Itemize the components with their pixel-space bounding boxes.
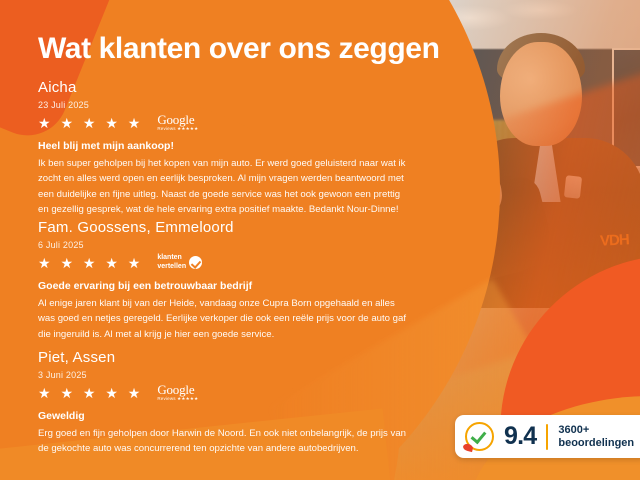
google-logo: Google Reviews ★★★★★	[157, 113, 198, 132]
star-rating: ★ ★ ★ ★ ★	[38, 256, 143, 270]
review-count: 3600+	[558, 424, 634, 437]
review-title: Geweldig	[38, 410, 418, 422]
review-body: Al enige jaren klant bij van der Heide, …	[38, 296, 410, 343]
overall-score-value: 9.4	[504, 424, 536, 449]
reviewer-name: Piet, Assen	[38, 350, 418, 367]
content-layer: Wat klanten over ons zeggen Aicha 23 Jul…	[0, 0, 640, 480]
review-date: 23 Juli 2025	[38, 100, 418, 110]
reviewer-name: Aicha	[38, 80, 418, 97]
review-banner: VDH Wat klanten over ons zeggen Aicha 23…	[0, 0, 640, 480]
klantenvertellen-check-icon	[465, 422, 494, 451]
review-item: Piet, Assen 3 Juni 2025 ★ ★ ★ ★ ★ Google…	[38, 350, 418, 457]
google-reviews-sublabel: Reviews ★★★★★	[157, 127, 198, 132]
overall-score-badge: 9.4 3600+ beoordelingen	[455, 415, 640, 458]
star-rating: ★ ★ ★ ★ ★	[38, 116, 143, 130]
score-meta: 3600+ beoordelingen	[558, 424, 634, 450]
review-body: Ik ben super geholpen bij het kopen van …	[38, 156, 410, 218]
review-date: 6 Juli 2025	[38, 240, 418, 250]
page-title: Wat klanten over ons zeggen	[38, 32, 440, 66]
review-meta: ★ ★ ★ ★ ★ klanten vertellen	[38, 254, 418, 272]
google-logo: Google Reviews ★★★★★	[157, 383, 198, 402]
review-meta: ★ ★ ★ ★ ★ Google Reviews ★★★★★	[38, 384, 418, 402]
review-title: Goede ervaring bij een betrouwbaar bedri…	[38, 280, 418, 292]
star-rating: ★ ★ ★ ★ ★	[38, 386, 143, 400]
score-divider	[546, 424, 548, 450]
reviewer-name: Fam. Goossens, Emmeloord	[38, 220, 418, 237]
review-date: 3 Juni 2025	[38, 370, 418, 380]
check-badge-icon	[189, 256, 202, 269]
google-wordmark: Google	[157, 113, 198, 126]
review-item: Aicha 23 Juli 2025 ★ ★ ★ ★ ★ Google Revi…	[38, 80, 418, 218]
review-title: Heel blij met mijn aankoop!	[38, 140, 418, 152]
klantenvertellen-logo: klanten vertellen	[157, 254, 202, 270]
google-reviews-sublabel: Reviews ★★★★★	[157, 397, 198, 402]
google-wordmark: Google	[157, 383, 198, 396]
review-meta: ★ ★ ★ ★ ★ Google Reviews ★★★★★	[38, 114, 418, 132]
review-count-label: beoordelingen	[558, 437, 634, 450]
review-body: Erg goed en fijn geholpen door Harwin de…	[38, 426, 410, 457]
klantenvertellen-line2: vertellen	[157, 263, 186, 270]
klantenvertellen-line1: klanten	[157, 254, 182, 261]
review-item: Fam. Goossens, Emmeloord 6 Juli 2025 ★ ★…	[38, 220, 418, 342]
